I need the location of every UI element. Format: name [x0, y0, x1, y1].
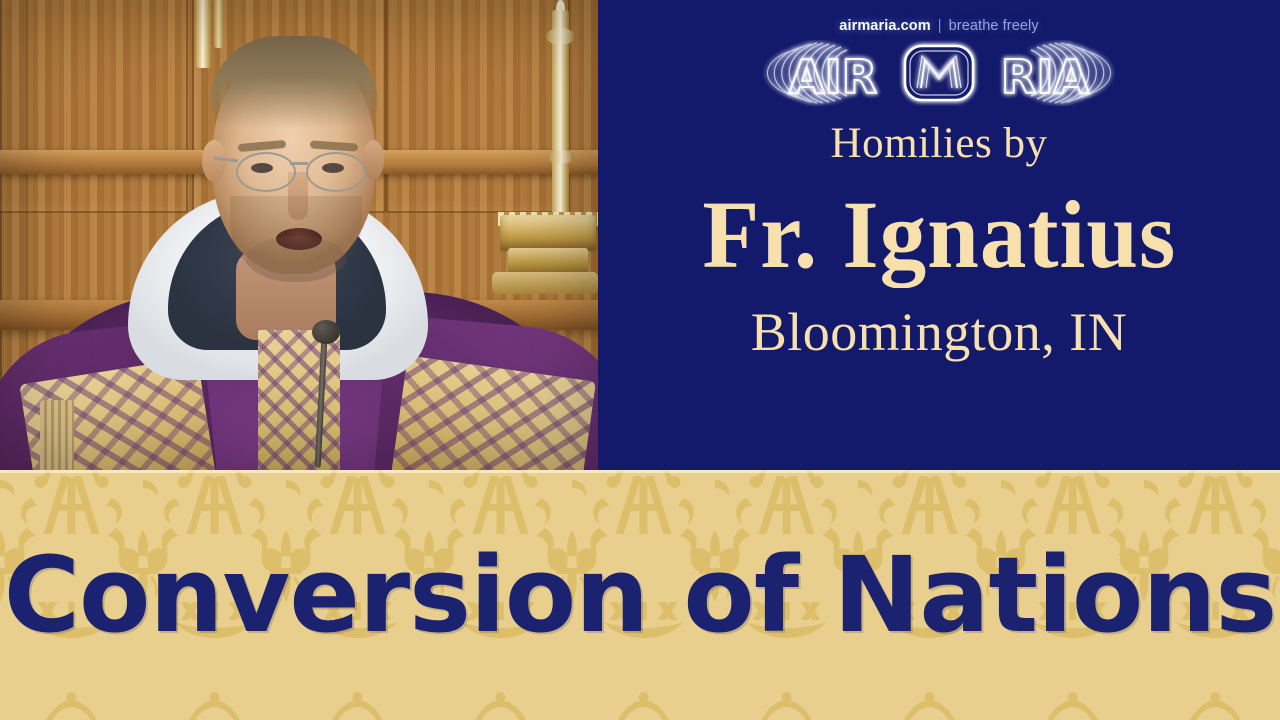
video-still[interactable] [0, 0, 598, 470]
info-panel: airmaria.com | breathe freely [598, 0, 1280, 470]
brand-domain[interactable]: airmaria.com [839, 18, 930, 34]
brand-line: airmaria.com | breathe freely [839, 18, 1038, 34]
video-thumbnail: airmaria.com | breathe freely [0, 0, 1280, 720]
svg-text:AIR: AIR [789, 50, 877, 104]
speaker-name: Fr. Ignatius [702, 187, 1176, 283]
homilies-prefix: Homilies by [831, 122, 1048, 165]
airmaria-logo[interactable]: AIR RIA [729, 40, 1149, 106]
brand-separator: | [938, 18, 942, 34]
vignette-overlay [0, 0, 598, 470]
banner-title: Conversion of Nations [0, 470, 1280, 720]
location-label: Bloomington, IN [751, 305, 1128, 359]
title-banner: Conversion of Nations [0, 470, 1280, 720]
airmaria-logo-svg: AIR RIA [729, 40, 1149, 106]
svg-text:RIA: RIA [1001, 50, 1090, 104]
brand-tagline: breathe freely [949, 18, 1039, 34]
